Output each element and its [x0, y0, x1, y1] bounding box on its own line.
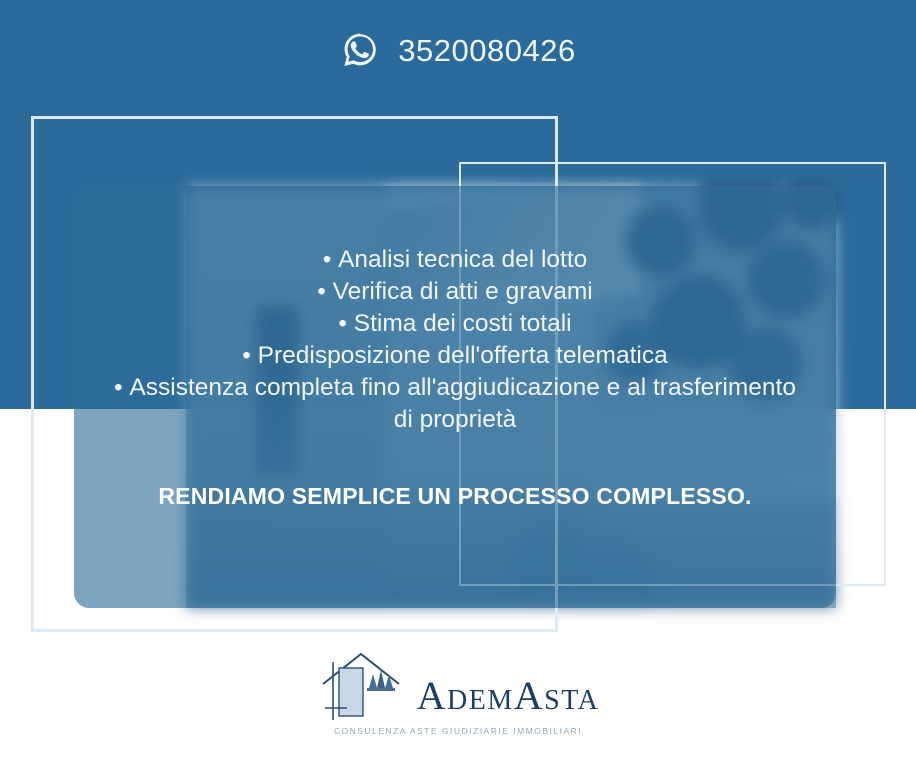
list-item: Predisposizione dell'offerta telematica: [114, 340, 796, 372]
logo-wordmark: AdemAsta: [417, 676, 600, 716]
list-item: Assistenza completa fino all'aggiudicazi…: [114, 372, 796, 436]
service-card: Analisi tecnica del lotto Verifica di at…: [74, 186, 836, 608]
phone-number[interactable]: 3520080426: [398, 35, 575, 66]
logo-subtitle: Consulenza aste giudiziarie immobiliari: [334, 726, 582, 736]
list-item: Verifica di atti e gravami: [114, 276, 796, 308]
contact-header: 3520080426: [0, 30, 916, 70]
house-outline-icon: [317, 648, 413, 722]
brand-logo[interactable]: AdemAsta Consulenza aste giudiziarie imm…: [0, 648, 916, 736]
list-item: Stima dei costi totali: [114, 308, 796, 340]
list-item: Analisi tecnica del lotto: [114, 244, 796, 276]
service-list: Analisi tecnica del lotto Verifica di at…: [114, 244, 796, 436]
poster-canvas: 3520080426 Analisi tecnica del lotto Ver…: [0, 0, 916, 768]
logo-lockup: AdemAsta: [317, 648, 600, 722]
whatsapp-icon[interactable]: [340, 30, 380, 70]
tagline: RENDIAMO SEMPLICE UN PROCESSO COMPLESSO.: [114, 483, 796, 510]
